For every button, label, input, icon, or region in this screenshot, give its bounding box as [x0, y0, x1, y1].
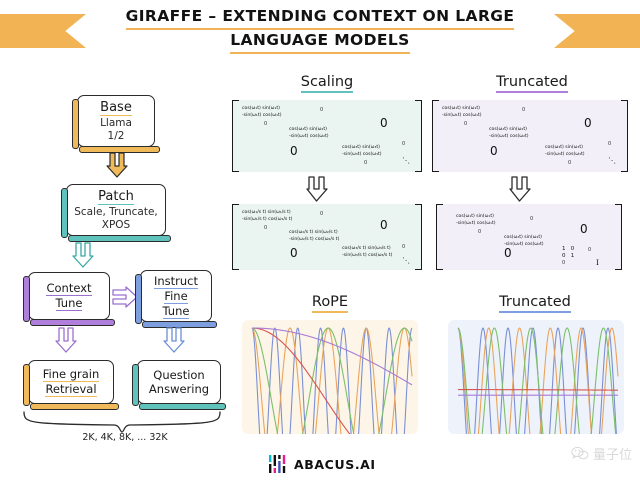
matrix-scaling-bottom: cos(ω₁/s t) sin(ω₁/s t) -sin(ω₁/s t) cos…	[232, 204, 422, 270]
matrix-cell: -sin(ω₁/s t) cos(ω₁/s t)	[242, 217, 292, 223]
matrix-cell: -sin(ω₃t) cos(ω₃t)	[342, 152, 382, 158]
arrow-context-to-finegrain	[55, 327, 77, 353]
matrix-cell: cos(ω₃/s t) sin(ω₃/s t)	[342, 246, 391, 252]
arrow-instruct-to-question	[163, 327, 185, 353]
matrix-zero-block: 0	[380, 116, 388, 130]
matrix-cell: cos(ω₃t) sin(ω₃t)	[342, 145, 380, 151]
matrix-identity-row: 1 0	[562, 246, 574, 253]
flow-box-question-answering[interactable]: Question Answering	[137, 360, 221, 404]
bracket-left-icon	[436, 204, 443, 270]
plot-truncated	[448, 320, 624, 434]
matrix-scaling-top: cos(ω₁t) sin(ω₁t) -sin(ω₁t) cos(ω₁t) cos…	[232, 100, 422, 172]
matrix-zero-block: 0	[504, 246, 512, 260]
bracket-right-icon	[615, 204, 622, 270]
watermark-text: 量子位	[593, 444, 632, 463]
ribbon-left-icon	[0, 14, 86, 48]
box-shadow-left	[61, 188, 68, 238]
flow-box-instruct-fine-tune[interactable]: Instruct Fine Tune	[140, 270, 212, 322]
arrow-base-to-patch	[106, 152, 128, 178]
box-shadow-left	[132, 364, 139, 406]
matrix-zero: 0	[264, 121, 267, 127]
flow-box-patch-title: Patch	[98, 189, 134, 205]
matrix-cell: -sin(ω₂/s t) cos(ω₂/s t)	[289, 237, 339, 243]
flow-box-instruct-line3: Tune	[163, 304, 190, 319]
matrix-heading-scaling: Scaling	[262, 74, 392, 93]
matrix-ellipsis: ⋱	[608, 156, 616, 165]
bracket-left-icon	[432, 100, 439, 172]
wechat-icon	[571, 446, 589, 461]
arrow-truncated-transform	[508, 176, 532, 206]
matrix-cell: -sin(ω₃/s t) cos(ω₃/s t)	[342, 253, 392, 259]
flow-box-patch[interactable]: Patch Scale, Truncate, XPOS	[66, 184, 166, 236]
box-shadow-bottom	[139, 403, 226, 410]
matrix-zero: 0	[522, 107, 525, 113]
title-banner: GIRAFFE – EXTENDING CONTEXT ON LARGE LAN…	[0, 14, 640, 48]
watermark: 量子位	[571, 444, 632, 463]
box-shadow-bottom	[68, 235, 171, 242]
flow-box-patch-sub1: Scale, Truncate,	[74, 206, 158, 219]
matrix-zero: 0	[478, 229, 481, 235]
arrow-patch-to-context	[72, 242, 94, 268]
matrix-zero-block: 0	[380, 218, 388, 232]
box-shadow-left	[23, 364, 30, 406]
plot-heading-rope: RoPE	[270, 294, 390, 313]
matrix-cell: cos(ω₁/s t) sin(ω₁/s t)	[242, 210, 291, 216]
ribbon-right-icon	[554, 14, 640, 48]
flow-box-finegrain-line2: Retrieval	[45, 382, 96, 397]
plot-series	[458, 390, 618, 391]
flow-box-context-line1: Context	[46, 281, 91, 296]
bracket-right-icon	[415, 204, 422, 270]
matrix-zero: 0	[264, 225, 267, 231]
flow-box-patch-sub2: XPOS	[102, 219, 130, 232]
abacus-logo: ABACUS.AI	[268, 455, 376, 473]
matrix-zero-block: 0	[290, 246, 298, 260]
box-shadow-left	[23, 276, 30, 322]
bracket-left-icon	[232, 100, 239, 172]
bracket-left-icon	[232, 204, 239, 270]
plot-rope	[242, 320, 418, 434]
matrix-zero: 0	[464, 121, 467, 127]
abacus-brand-suffix: .AI	[355, 457, 376, 472]
flow-brace-label: 2K, 4K, 8K, ... 32K	[30, 432, 220, 443]
matrix-truncated-top: cos(ω₁t) sin(ω₁t) -sin(ω₁t) cos(ω₁t) cos…	[432, 100, 628, 172]
flow-box-base-title: Base	[100, 100, 132, 116]
abacus-brand: ABACUS	[294, 457, 355, 472]
matrix-truncated-bottom: cos(ω₁t) sin(ω₁t) -sin(ω₁t) cos(ω₁t) cos…	[436, 204, 622, 270]
matrix-zero-block: 0	[580, 222, 588, 236]
box-shadow-left	[135, 274, 142, 324]
flow-box-fine-grain-retrieval[interactable]: Fine grain Retrieval	[28, 360, 114, 404]
matrix-zero-block: 0	[290, 144, 298, 158]
matrix-zero: 0	[562, 260, 565, 266]
plot-truncated-canvas	[448, 320, 624, 434]
matrix-cell: -sin(ω₂t) cos(ω₂t)	[489, 134, 529, 140]
matrix-zero: 0	[320, 211, 323, 217]
page-title: GIRAFFE – EXTENDING CONTEXT ON LARGE LAN…	[90, 6, 550, 54]
box-shadow-left	[72, 99, 79, 149]
matrix-cell: -sin(ω₂t) cos(ω₂t)	[289, 134, 329, 140]
matrix-cell: cos(ω₁t) sin(ω₁t)	[442, 106, 480, 112]
box-shadow-bottom	[30, 403, 119, 410]
matrix-zero: 0	[364, 160, 367, 166]
box-shadow-bottom	[30, 319, 115, 326]
flow-box-context-tune[interactable]: Context Tune	[28, 272, 110, 320]
matrix-cell: cos(ω₁t) sin(ω₁t)	[242, 106, 280, 112]
matrix-zero: 0	[608, 141, 611, 147]
matrix-cell: cos(ω₁t) sin(ω₁t)	[456, 214, 494, 220]
matrix-identity-row: 0 1	[562, 253, 574, 260]
matrix-zero: 0	[402, 244, 405, 250]
matrix-zero: 0	[588, 247, 591, 253]
plot-heading-truncated: Truncated	[470, 294, 600, 313]
matrix-cell: -sin(ω₁t) cos(ω₁t)	[456, 221, 496, 227]
matrix-cell: cos(ω₂t) sin(ω₂t)	[289, 127, 327, 133]
bracket-right-icon	[415, 100, 422, 172]
matrix-cell: cos(ω₂t) sin(ω₂t)	[489, 127, 527, 133]
matrix-zero: 0	[530, 216, 533, 222]
flow-box-base-sub2: 1/2	[108, 130, 125, 143]
matrix-cell: -sin(ω₃t) cos(ω₃t)	[545, 152, 585, 158]
bracket-right-icon	[621, 100, 628, 172]
matrix-zero-block: 0	[584, 116, 592, 130]
matrix-zero: 0	[320, 107, 323, 113]
flow-box-base[interactable]: Base Llama 1/2	[77, 95, 155, 147]
matrix-cell: cos(ω₂t) sin(ω₂t)	[504, 235, 542, 241]
matrix-cell: -sin(ω₁t) cos(ω₁t)	[242, 113, 282, 119]
matrix-ellipsis: ⋱	[402, 156, 410, 165]
page-title-line2: LANGUAGE MODELS	[230, 30, 409, 54]
flow-box-instruct-line2: Fine	[164, 289, 187, 304]
flow-box-question-line1: Question	[153, 368, 204, 382]
flow-box-instruct-line1: Instruct	[154, 274, 198, 289]
matrix-heading-truncated: Truncated	[462, 74, 602, 93]
arrow-scaling-transform	[305, 176, 329, 206]
matrix-identity-label: I	[596, 258, 599, 267]
matrix-cell: cos(ω₂/s t) sin(ω₂/s t)	[289, 230, 338, 236]
flow-box-finegrain-line1: Fine grain	[43, 367, 100, 382]
matrix-zero-block: 0	[490, 144, 498, 158]
abacus-mark-icon	[268, 455, 288, 473]
matrix-zero: 0	[568, 160, 571, 166]
matrix-cell: -sin(ω₁t) cos(ω₁t)	[442, 113, 482, 119]
flow-box-context-line2: Tune	[56, 296, 83, 311]
page-title-line1: GIRAFFE – EXTENDING CONTEXT ON LARGE	[126, 6, 515, 30]
plot-rope-canvas	[242, 320, 418, 434]
matrix-ellipsis: ⋱	[402, 256, 410, 265]
flow-box-question-line2: Answering	[149, 382, 209, 396]
matrix-zero: 0	[402, 141, 405, 147]
flow-box-base-sub1: Llama	[100, 117, 132, 130]
abacus-wordmark: ABACUS.AI	[294, 457, 376, 472]
matrix-cell: cos(ω₃t) sin(ω₃t)	[545, 145, 583, 151]
